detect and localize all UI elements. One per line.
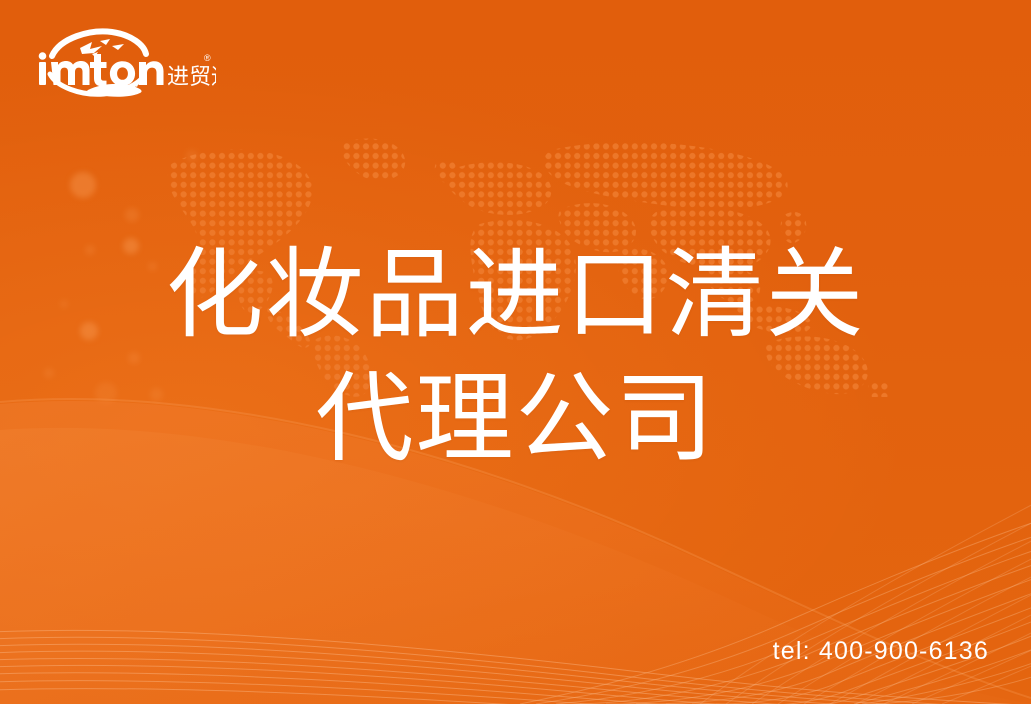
page-title: 化妆品进口清关 代理公司	[0, 232, 1031, 481]
logo-wordmark-chinese: 进贸通	[167, 65, 216, 90]
logo-wordmark-latin	[39, 52, 164, 86]
headline-line-1: 化妆品进口清关	[0, 232, 1031, 356]
promo-banner: 进贸通 ® 化妆品进口清关 代理公司 tel: 400-900-6136	[0, 0, 1031, 704]
contact-phone[interactable]: tel: 400-900-6136	[773, 637, 989, 666]
registered-mark-icon: ®	[204, 53, 211, 63]
brand-logo[interactable]: 进贸通 ®	[36, 28, 216, 104]
headline-line-2: 代理公司	[0, 356, 1031, 480]
